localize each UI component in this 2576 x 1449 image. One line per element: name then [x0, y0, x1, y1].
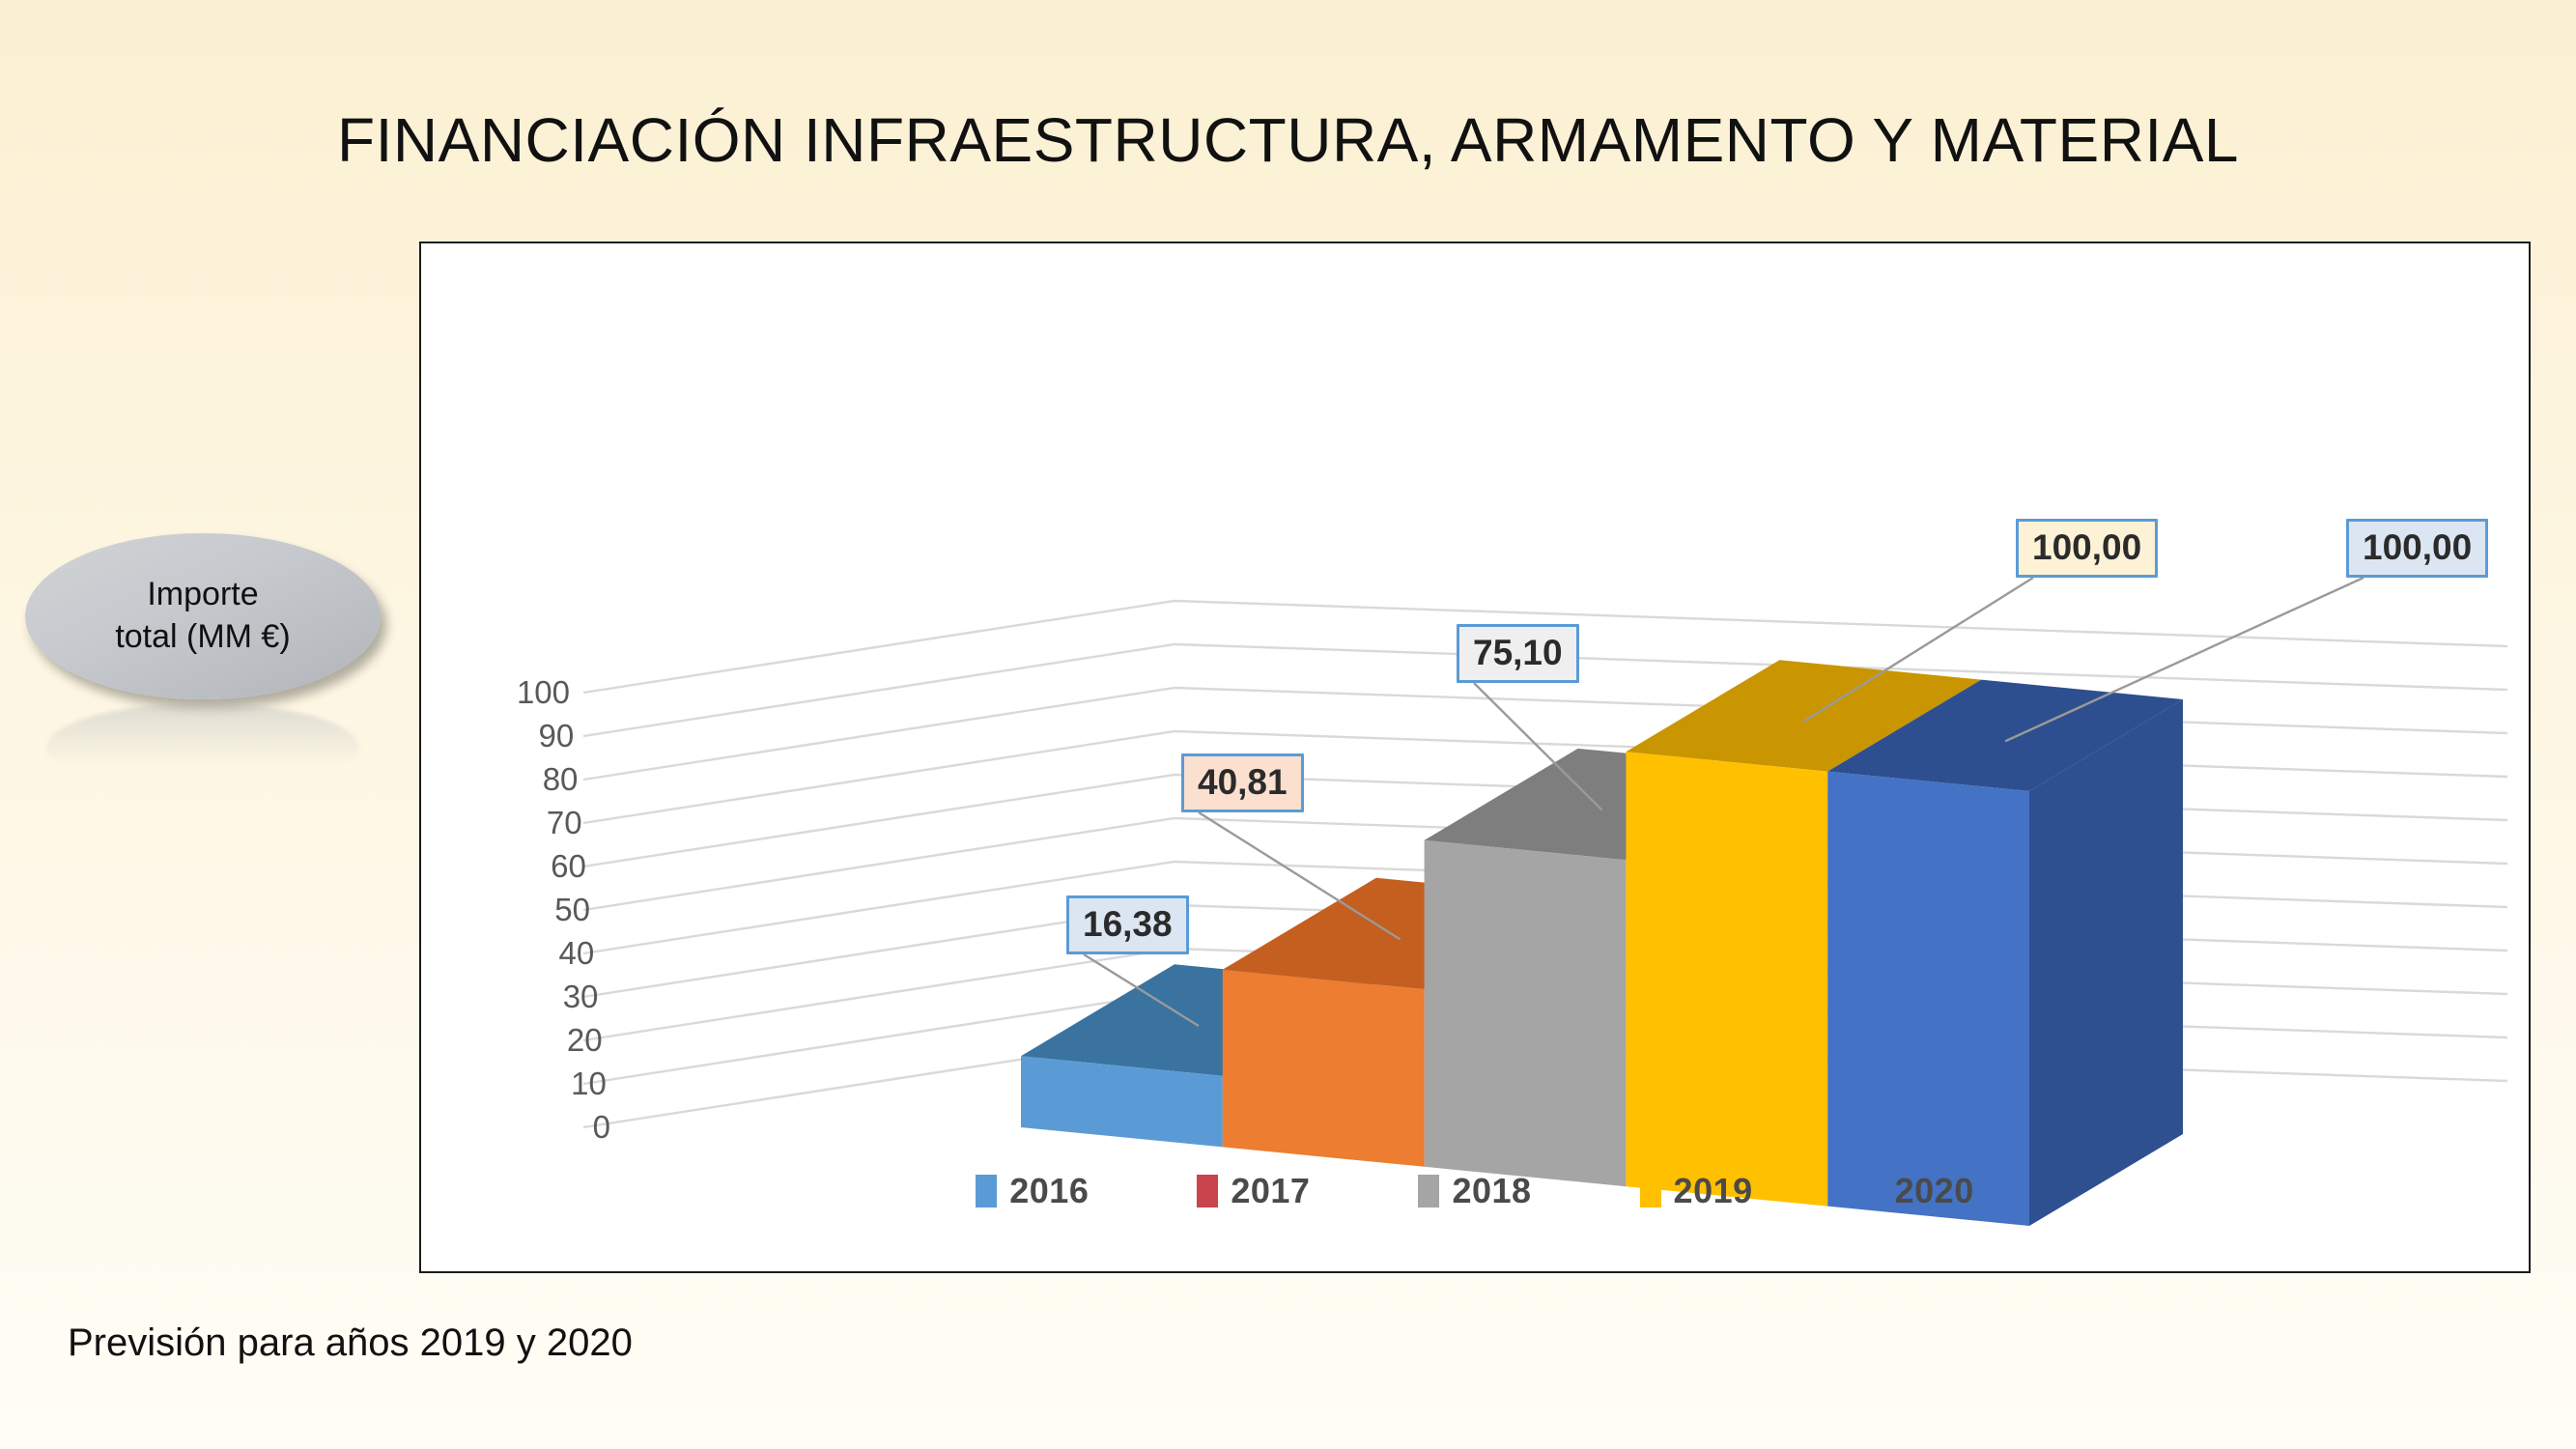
legend-item-2018[interactable]: 2018: [1418, 1171, 1531, 1211]
bar-front-face[interactable]: [1827, 772, 2029, 1226]
legend-item-2017[interactable]: 2017: [1197, 1171, 1310, 1211]
legend-item-2016[interactable]: 2016: [976, 1171, 1089, 1211]
legend-swatch-icon: [1861, 1175, 1882, 1207]
legend-item-2019[interactable]: 2019: [1640, 1171, 1753, 1211]
callout-ellipse-reflection: [46, 703, 359, 792]
y-axis-tick-label: 40: [558, 935, 594, 972]
chart-container[interactable]: 0102030405060708090100 16,3840,8175,1010…: [419, 241, 2531, 1273]
legend-label: 2019: [1674, 1171, 1753, 1211]
y-axis-tick-label: 50: [554, 892, 590, 928]
y-axis-tick-label: 90: [538, 718, 574, 754]
y-axis-tick-label: 30: [563, 979, 599, 1015]
chart-plot-area: [421, 243, 2529, 1271]
callout-ellipse-group: Importe total (MM €): [25, 533, 381, 699]
y-axis-tick-label: 20: [567, 1022, 603, 1059]
callout-ellipse-shape[interactable]: Importe total (MM €): [25, 533, 381, 699]
legend-item-2020[interactable]: 2020: [1861, 1171, 1974, 1211]
bar-value-label[interactable]: 40,81: [1181, 753, 1304, 812]
footnote: Previsión para años 2019 y 2020: [68, 1321, 633, 1365]
bar-value-label[interactable]: 100,00: [2346, 519, 2488, 578]
chart-legend[interactable]: 20162017201820192020: [421, 1171, 2529, 1211]
legend-label: 2018: [1452, 1171, 1531, 1211]
legend-label: 2020: [1895, 1171, 1974, 1211]
legend-swatch-icon: [976, 1175, 997, 1207]
y-axis-tick-label: 60: [551, 848, 586, 885]
callout-ellipse-label: Importe total (MM €): [115, 574, 290, 658]
legend-swatch-icon: [1640, 1175, 1661, 1207]
bar-value-label[interactable]: 16,38: [1066, 895, 1189, 954]
y-axis-tick-label: 70: [547, 805, 582, 841]
bar-front-face[interactable]: [1223, 970, 1425, 1167]
page-title: FINANCIACIÓN INFRAESTRUCTURA, ARMAMENTO …: [0, 104, 2576, 176]
y-axis-tick-label: 0: [593, 1109, 610, 1146]
bar-value-label[interactable]: 100,00: [2016, 519, 2158, 578]
y-axis-tick-label: 10: [571, 1065, 607, 1102]
y-axis-tick-label: 80: [543, 761, 579, 798]
bar-front-face[interactable]: [1425, 840, 1627, 1186]
legend-swatch-icon: [1418, 1175, 1439, 1207]
legend-label: 2016: [1009, 1171, 1089, 1211]
legend-label: 2017: [1231, 1171, 1310, 1211]
chart-3d-svg: [421, 243, 2529, 1271]
bar-side-face[interactable]: [2029, 699, 2183, 1226]
legend-swatch-icon: [1197, 1175, 1218, 1207]
bar-value-label[interactable]: 75,10: [1457, 624, 1579, 683]
bar-front-face[interactable]: [1626, 752, 1827, 1206]
y-axis-tick-label: 100: [517, 674, 570, 711]
label-leader-line: [2005, 578, 2364, 741]
label-leader-line: [1199, 812, 1401, 939]
